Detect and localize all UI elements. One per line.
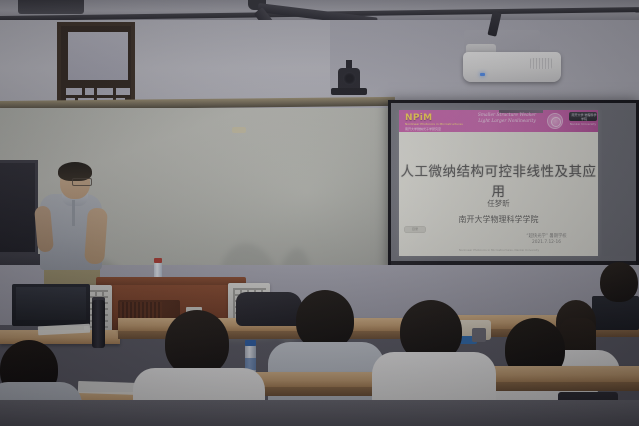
phone-on-desk: [472, 328, 486, 342]
black-thermos: [92, 300, 105, 348]
laptop-left-screen: [16, 287, 86, 320]
student-back-right-head: [600, 262, 638, 302]
backpack: [236, 292, 302, 326]
projector-vent: [530, 58, 552, 69]
slide-title: 人工微纳结构可控非线性及其应用: [399, 160, 598, 200]
university-seal-icon: [547, 113, 563, 129]
camera-mount: [331, 88, 367, 95]
water-bottle-cap: [154, 258, 162, 263]
camera-lens-icon: [343, 72, 356, 85]
presenter-glasses-icon: [72, 178, 92, 186]
projection-screen: NPiM Nonlinear Photonics in Microstructu…: [388, 100, 639, 272]
slide-speaker-name: 任梦昕: [399, 198, 598, 209]
whiteboard-magnet: [232, 127, 246, 133]
podium-speaker-grille: [120, 302, 162, 319]
slide-event-info: “超快光学” 暑期学校 2021.7.12-16: [499, 234, 594, 246]
slide-header-badge-sub: Nankai University: [569, 122, 597, 126]
slide-event-date: 2021.7.12-16: [499, 240, 594, 246]
slide-footer: Nonlinear Photonics in Microstructures, …: [439, 248, 559, 252]
paper-sheet: [78, 381, 140, 395]
slide-header-badge-label: 南开大学 物理科学学院: [571, 113, 597, 121]
water-bottle-desk-cap: [245, 340, 256, 346]
slide-corner-badge-label: 目录: [404, 227, 426, 231]
slide-affiliation: 南开大学物理科学学院: [399, 214, 598, 225]
npim-logo-subtitle-cn: 南开大学微纳光子学研究室: [405, 127, 465, 131]
floor: [0, 400, 639, 426]
lattice-upper-pane: [68, 32, 128, 80]
ceiling-vent: [18, 0, 84, 14]
presenter-arm-right: [84, 207, 108, 264]
npim-logo-subtitle: Nonlinear Photonics in Microstructures: [405, 122, 465, 126]
slide-header-tagline: Smaller Structure Weaker Light Larger No…: [477, 113, 537, 124]
lecture-hall-photo: NPiM Nonlinear Photonics in Microstructu…: [0, 0, 639, 426]
presentation-slide: NPiM Nonlinear Photonics in Microstructu…: [399, 110, 598, 256]
student-front-left-head: [165, 310, 229, 376]
presenter-shirt-placket: [72, 200, 75, 226]
wall-display-monitor: [0, 160, 38, 255]
screen-unused-area: [602, 110, 636, 256]
student-center-head: [296, 290, 354, 350]
projector-power-led-icon: [480, 73, 485, 76]
